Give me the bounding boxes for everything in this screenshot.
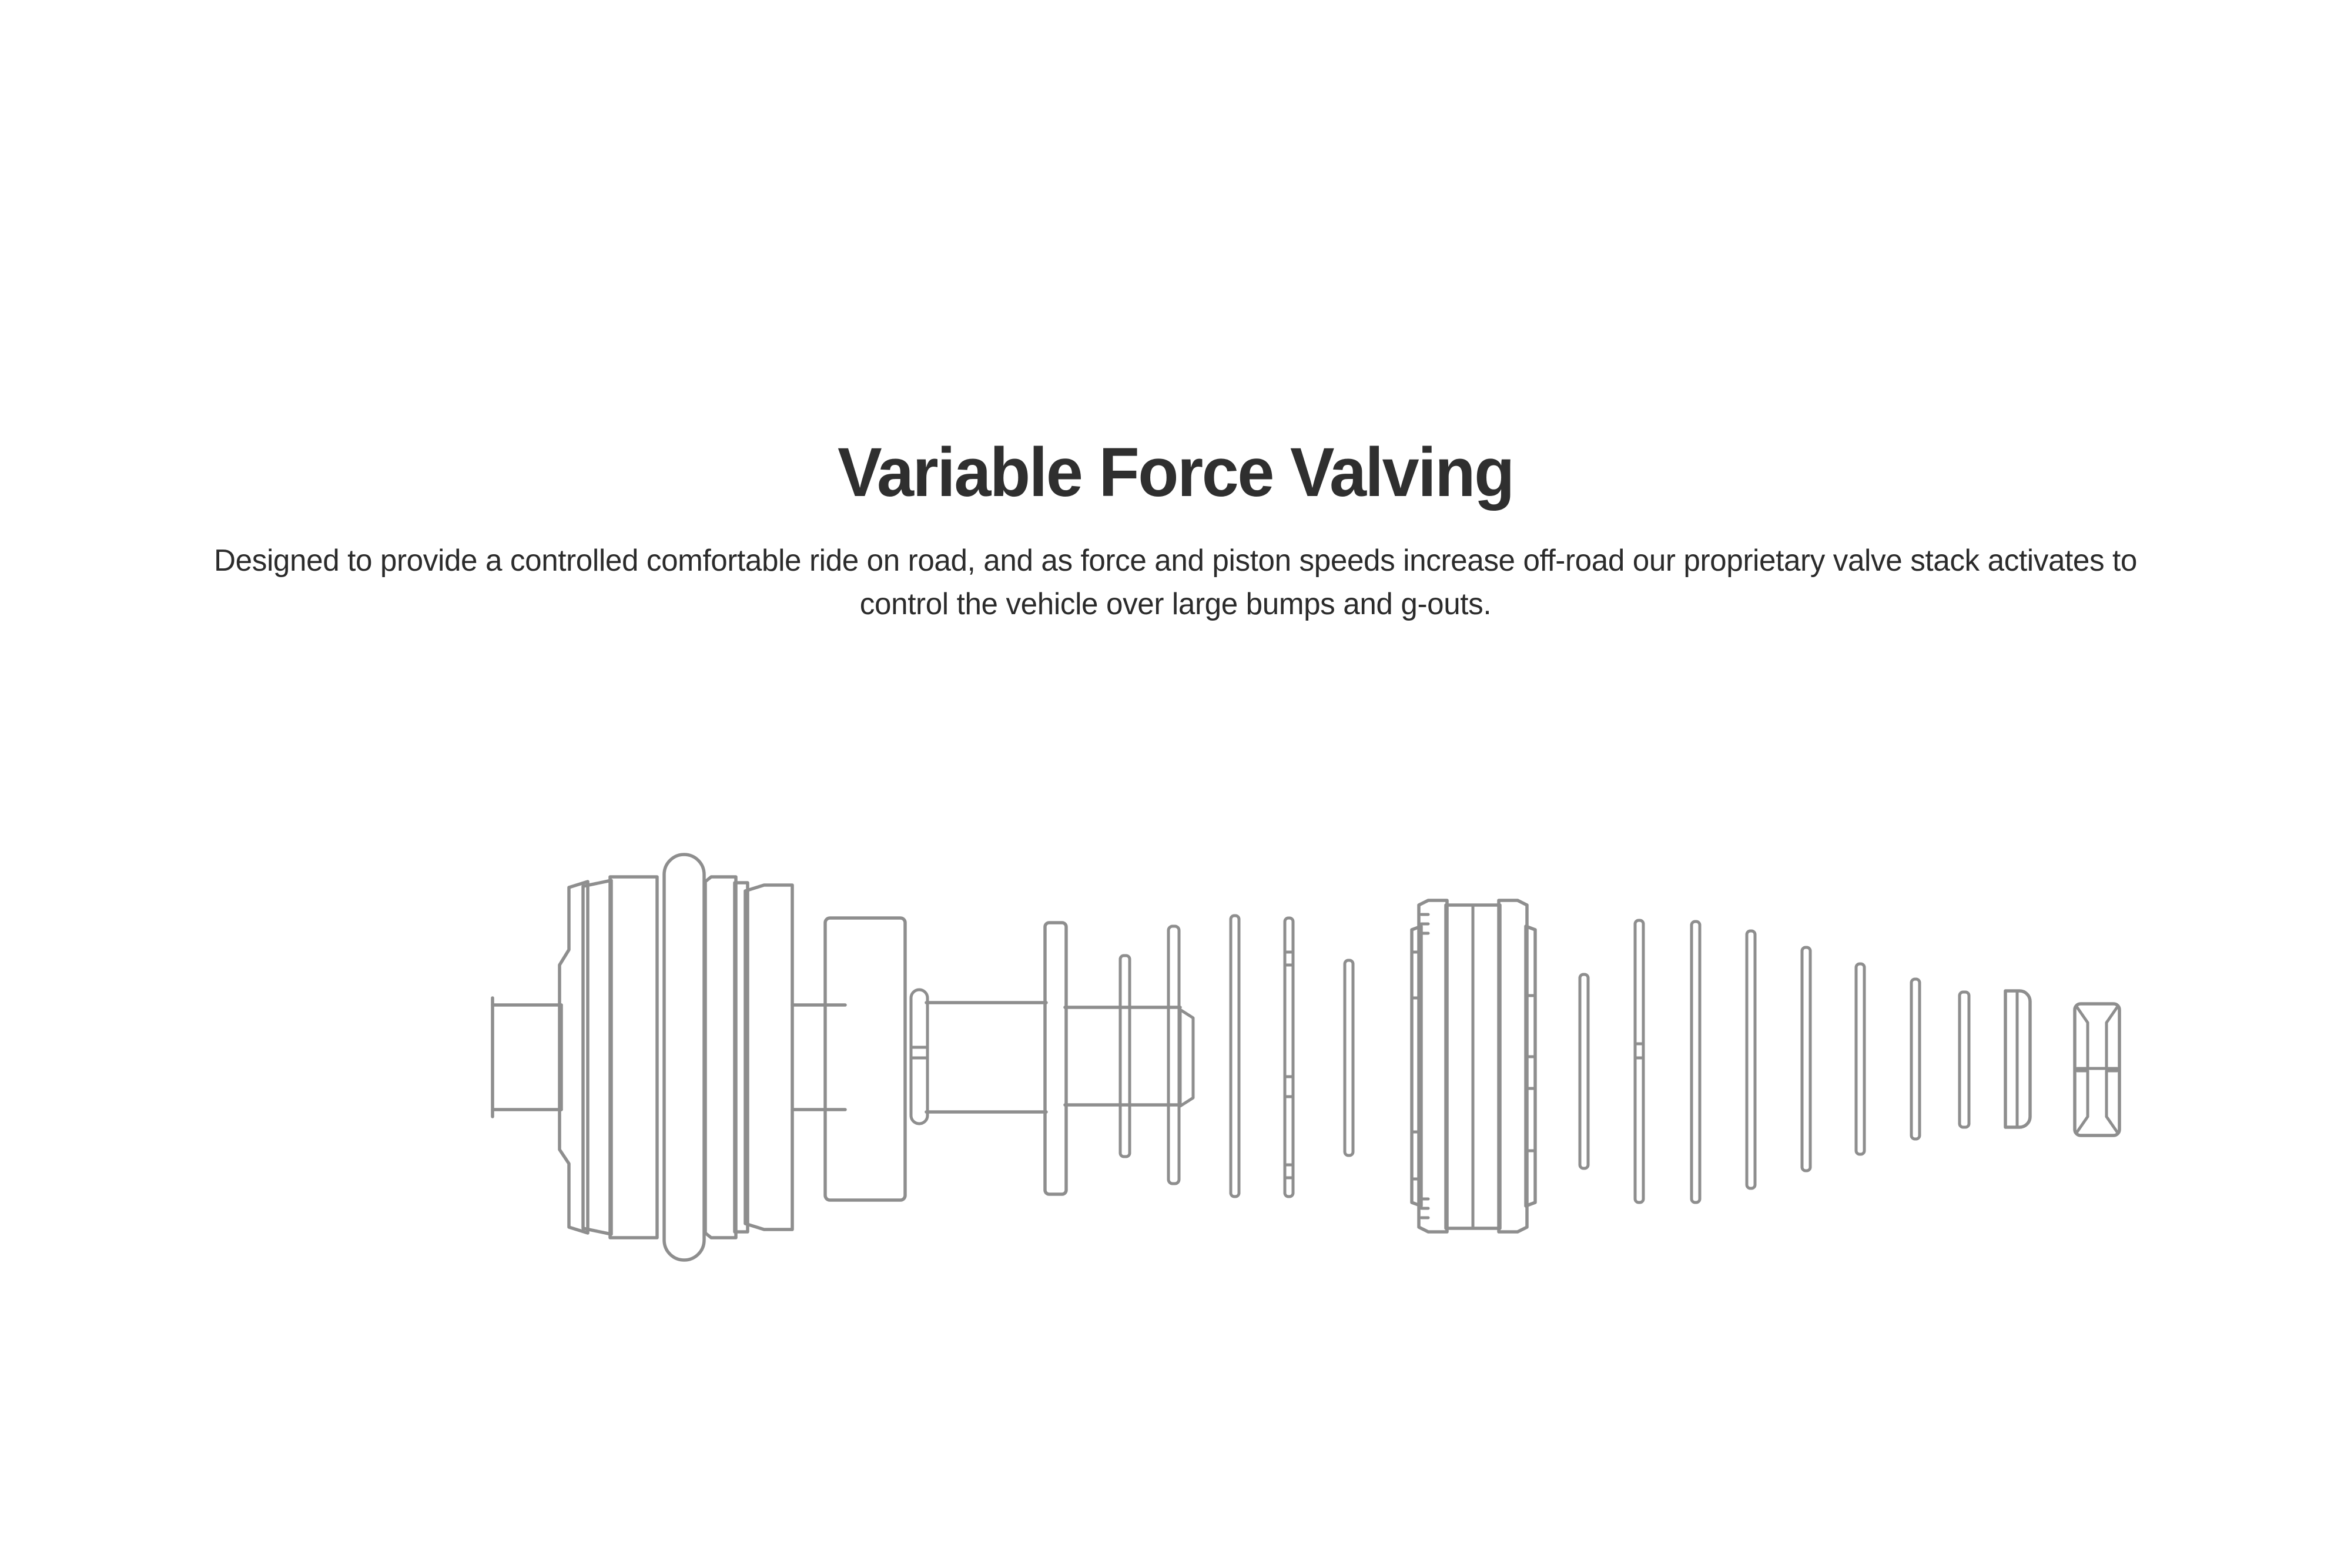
- page-title: Variable Force Valving: [47, 435, 2304, 511]
- part-washer-large: [1045, 923, 1066, 1194]
- part-backing-washer: [2005, 991, 2030, 1127]
- part-shim-4: [1580, 974, 1588, 1168]
- part-spacer-cylinder-body: [825, 918, 905, 1200]
- part-shim-6: [1692, 922, 1700, 1202]
- part-o-ring-small: [911, 990, 927, 1124]
- part-piston-body: [1412, 900, 1535, 1232]
- part-shaft-segment: [1065, 1007, 1180, 1105]
- part-shim-8: [1802, 947, 1810, 1171]
- valve-stack-illustration: [0, 811, 2351, 1328]
- exploded-diagram-svg: [0, 811, 2351, 1328]
- text-content-block: Variable Force Valving Designed to provi…: [0, 435, 2351, 626]
- part-shim-5: [1635, 920, 1643, 1202]
- part-hex-nut: [2075, 1004, 2119, 1135]
- page-root: Variable Force Valving Designed to provi…: [0, 0, 2351, 1568]
- part-shim-2: [1285, 918, 1293, 1197]
- part-mid-rib: [1120, 956, 1130, 1157]
- part-inner-shaft: [926, 1003, 1046, 1112]
- part-shim-7: [1747, 931, 1755, 1188]
- part-shim-10: [1911, 979, 1920, 1139]
- part-bushing: [1168, 926, 1193, 1184]
- part-shim-11: [1960, 992, 1969, 1127]
- part-shim-1: [1231, 916, 1239, 1197]
- part-seal-head-body: [560, 855, 792, 1260]
- part-shim-9: [1856, 964, 1864, 1154]
- part-shaft-end: [493, 998, 561, 1117]
- part-connecting-shaft: [792, 1005, 845, 1110]
- section-description: Designed to provide a controlled comfort…: [171, 511, 2180, 626]
- part-shim-3: [1345, 960, 1353, 1155]
